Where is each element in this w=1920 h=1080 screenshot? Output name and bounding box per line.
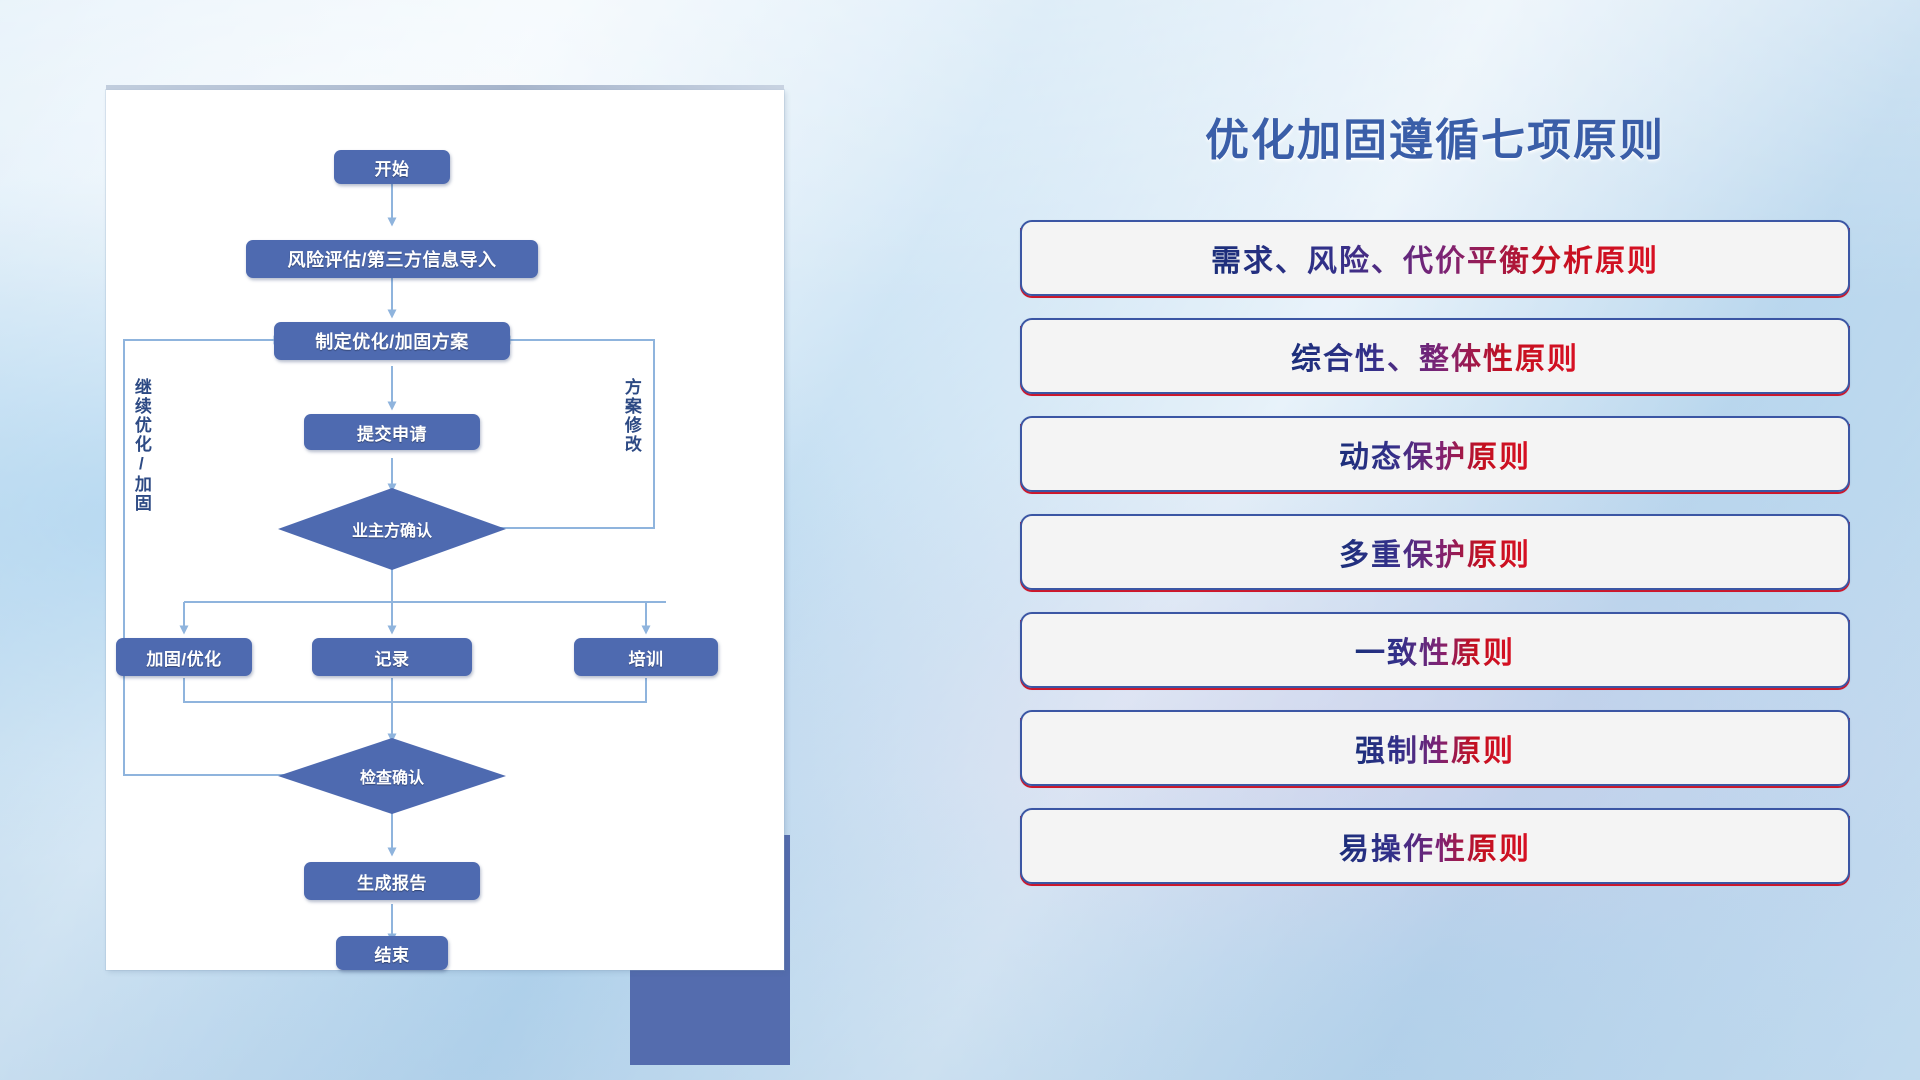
flow-node-generate-report[interactable]: 生成报告	[304, 862, 480, 900]
principle-label: 综合性、整体性原则	[1291, 334, 1579, 378]
flow-node-training[interactable]: 培训	[574, 638, 718, 676]
edge-label-plan-revision: 方案修改	[622, 378, 640, 454]
flowchart-card: 开始 风险评估/第三方信息导入 制定优化/加固方案 提交申请 业主方确认 加固/…	[106, 90, 784, 970]
principle-label: 强制性原则	[1355, 726, 1515, 770]
principle-item[interactable]: 多重保护原则	[1020, 514, 1850, 590]
principle-label: 动态保护原则	[1339, 432, 1531, 476]
principle-item[interactable]: 需求、风险、代价平衡分析原则	[1020, 220, 1850, 296]
flow-node-end[interactable]: 结束	[336, 936, 448, 970]
principle-label: 需求、风险、代价平衡分析原则	[1211, 236, 1659, 280]
principle-item[interactable]: 动态保护原则	[1020, 416, 1850, 492]
principles-panel: 优化加固遵循七项原则 需求、风险、代价平衡分析原则 综合性、整体性原则 动态保护…	[1020, 90, 1850, 1010]
flow-node-start[interactable]: 开始	[334, 150, 450, 184]
principle-item[interactable]: 一致性原则	[1020, 612, 1850, 688]
principle-item[interactable]: 易操作性原则	[1020, 808, 1850, 884]
principles-list: 需求、风险、代价平衡分析原则 综合性、整体性原则 动态保护原则 多重保护原则 一…	[1020, 220, 1850, 884]
flow-node-submit-application[interactable]: 提交申请	[304, 414, 480, 450]
flow-node-reinforce-optimize[interactable]: 加固/优化	[116, 638, 252, 676]
flow-node-plan[interactable]: 制定优化/加固方案	[274, 322, 510, 360]
principle-label: 多重保护原则	[1339, 530, 1531, 574]
flowchart-diagram: 开始 风险评估/第三方信息导入 制定优化/加固方案 提交申请 业主方确认 加固/…	[106, 90, 784, 970]
principle-item[interactable]: 强制性原则	[1020, 710, 1850, 786]
principle-label: 易操作性原则	[1339, 824, 1531, 868]
flow-node-risk-assessment[interactable]: 风险评估/第三方信息导入	[246, 240, 538, 278]
principle-label: 一致性原则	[1355, 628, 1515, 672]
flow-node-record[interactable]: 记录	[312, 638, 472, 676]
principle-item[interactable]: 综合性、整体性原则	[1020, 318, 1850, 394]
panel-title: 优化加固遵循七项原则	[1020, 104, 1850, 168]
edge-label-continue-optimize: 继续优化/加固	[132, 378, 150, 513]
flowchart-panel: 开始 风险评估/第三方信息导入 制定优化/加固方案 提交申请 业主方确认 加固/…	[100, 90, 800, 970]
